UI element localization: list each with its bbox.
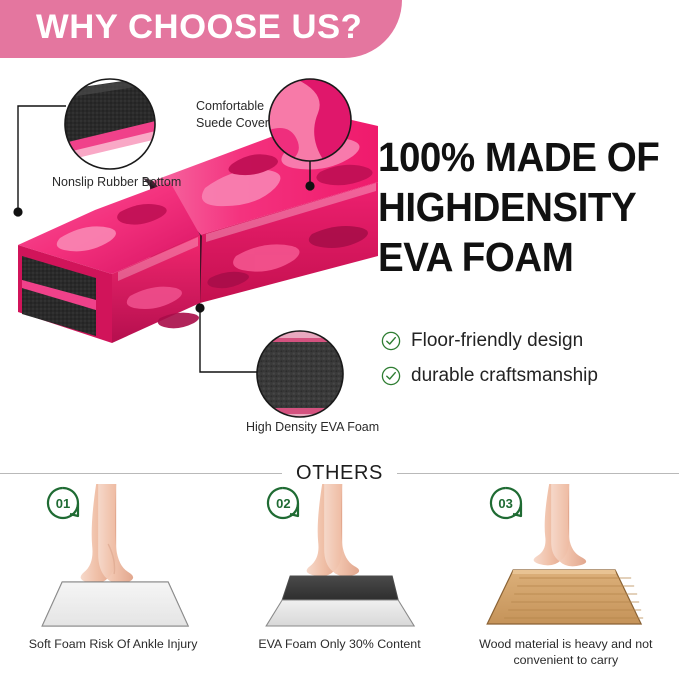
- check-circle-icon: [381, 331, 401, 351]
- page-title: WHY CHOOSE US?: [36, 8, 362, 47]
- scene-eva-foam-mat: [226, 484, 452, 634]
- leader-dot-suede: [305, 181, 314, 190]
- callout-label-nonslip-rubber-bottom: Nonslip Rubber Bottom: [52, 174, 181, 191]
- headline-line-3: EVA FOAM: [378, 232, 660, 282]
- headline: 100% MADE OF HIGHDENSITY EVA FOAM: [378, 132, 660, 282]
- others-divider: OTHERS: [0, 462, 679, 484]
- bullet-label: Floor-friendly design: [411, 330, 583, 352]
- mat-shape: [266, 576, 414, 626]
- feet-illustration: [533, 484, 586, 566]
- comparison-caption: Soft Foam Risk Of Ankle Injury: [0, 636, 226, 652]
- comparison-caption: Wood material is heavy and not convenien…: [453, 636, 679, 668]
- callout-label-comfortable-suede-cover: Comfortable Suede Cover: [196, 98, 276, 131]
- comparison-caption: EVA Foam Only 30% Content: [226, 636, 452, 652]
- list-item: durable craftsmanship: [381, 362, 671, 389]
- leader-dot-rubber: [13, 207, 22, 216]
- comparison-column-02: 02: [226, 484, 452, 675]
- others-comparison-row: 01: [0, 484, 679, 675]
- product-photo-area: Nonslip Rubber Bottom Comfortable Suede …: [0, 60, 378, 440]
- leader-dot-eva: [195, 303, 204, 312]
- list-item: Floor-friendly design: [381, 327, 671, 354]
- header-banner: WHY CHOOSE US?: [0, 0, 402, 58]
- scene-wood-board: [453, 484, 679, 634]
- comparison-column-03: 03: [453, 484, 679, 675]
- divider-rule-right: [397, 473, 679, 474]
- divider-title: OTHERS: [282, 462, 397, 485]
- scene-soft-foam-mat: [0, 484, 226, 634]
- feet-illustration: [81, 484, 134, 583]
- headline-line-1: 100% MADE OF: [378, 132, 660, 182]
- divider-rule-left: [0, 473, 282, 474]
- callout-circle-comfortable-suede-cover: [269, 79, 352, 162]
- bullet-label: durable craftsmanship: [411, 365, 598, 387]
- feet-illustration: [307, 484, 360, 576]
- infographic-root: WHY CHOOSE US?: [0, 0, 679, 675]
- mat-shape: [42, 582, 188, 626]
- comparison-column-01: 01: [0, 484, 226, 675]
- mat-shape: [487, 570, 643, 624]
- beam-body-left: [18, 182, 200, 343]
- callout-circle-nonslip-rubber-bottom: [60, 74, 170, 178]
- check-circle-icon: [381, 366, 401, 386]
- headline-line-2: HIGHDENSITY: [378, 182, 660, 232]
- feature-bullet-list: Floor-friendly design durable craftsmans…: [381, 327, 671, 397]
- callout-circle-high-density-eva-foam: [255, 329, 347, 422]
- product-illustration: [0, 60, 378, 440]
- callout-label-high-density-eva-foam: High Density EVA Foam: [246, 419, 379, 436]
